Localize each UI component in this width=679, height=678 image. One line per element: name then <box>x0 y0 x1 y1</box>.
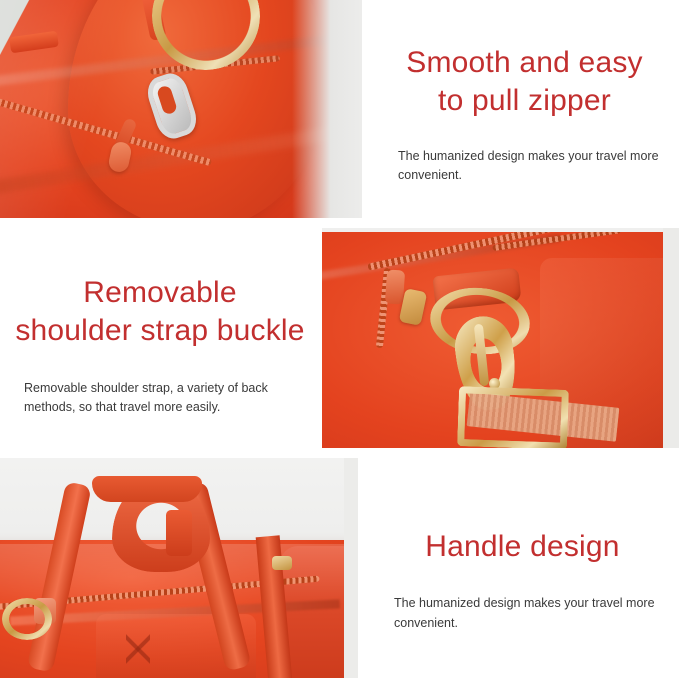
feature-body-text: The humanized design makes your travel m… <box>380 594 665 633</box>
feature-row-buckle: Removable shoulder strap buckle Removabl… <box>0 228 679 448</box>
zipper-pull-icon <box>385 269 405 304</box>
feature-heading: Handle design <box>380 528 665 566</box>
feature-sheet: Smooth and easy to pull zipper The human… <box>0 0 679 678</box>
feature-text-buckle: Removable shoulder strap buckle Removabl… <box>0 228 322 448</box>
heading-line-1: Handle design <box>425 530 619 563</box>
handle-keeper <box>166 510 192 556</box>
heading-line-2: to pull zipper <box>438 84 611 117</box>
strap-slider-loop <box>457 386 569 448</box>
photo-edge-fade <box>322 228 679 232</box>
feature-row-zipper: Smooth and easy to pull zipper The human… <box>0 0 679 218</box>
heading-line-1: Removable <box>83 276 237 309</box>
product-photo-handle <box>0 458 358 678</box>
product-photo-zipper <box>0 0 362 218</box>
feature-text-zipper: Smooth and easy to pull zipper The human… <box>362 0 679 218</box>
feature-row-handle: Handle design The humanized design makes… <box>0 458 679 678</box>
photo-edge-fade <box>292 0 362 218</box>
feature-body-text: The humanized design makes your travel m… <box>384 147 665 186</box>
feature-heading: Smooth and easy to pull zipper <box>384 44 665 121</box>
feature-heading: Removable shoulder strap buckle <box>14 274 306 351</box>
heading-line-2: shoulder strap buckle <box>15 314 304 347</box>
zipper-slider <box>272 556 292 570</box>
photo-edge-fade <box>344 458 358 678</box>
feature-text-handle: Handle design The humanized design makes… <box>358 458 679 678</box>
heading-line-1: Smooth and easy <box>406 46 642 79</box>
feature-body-text: Removable shoulder strap, a variety of b… <box>14 379 306 418</box>
d-ring-icon <box>2 598 52 640</box>
stitch-reinforcement <box>126 626 150 672</box>
handle-grip <box>92 476 202 502</box>
product-photo-buckle <box>322 228 679 448</box>
photo-edge-fade <box>663 228 679 448</box>
